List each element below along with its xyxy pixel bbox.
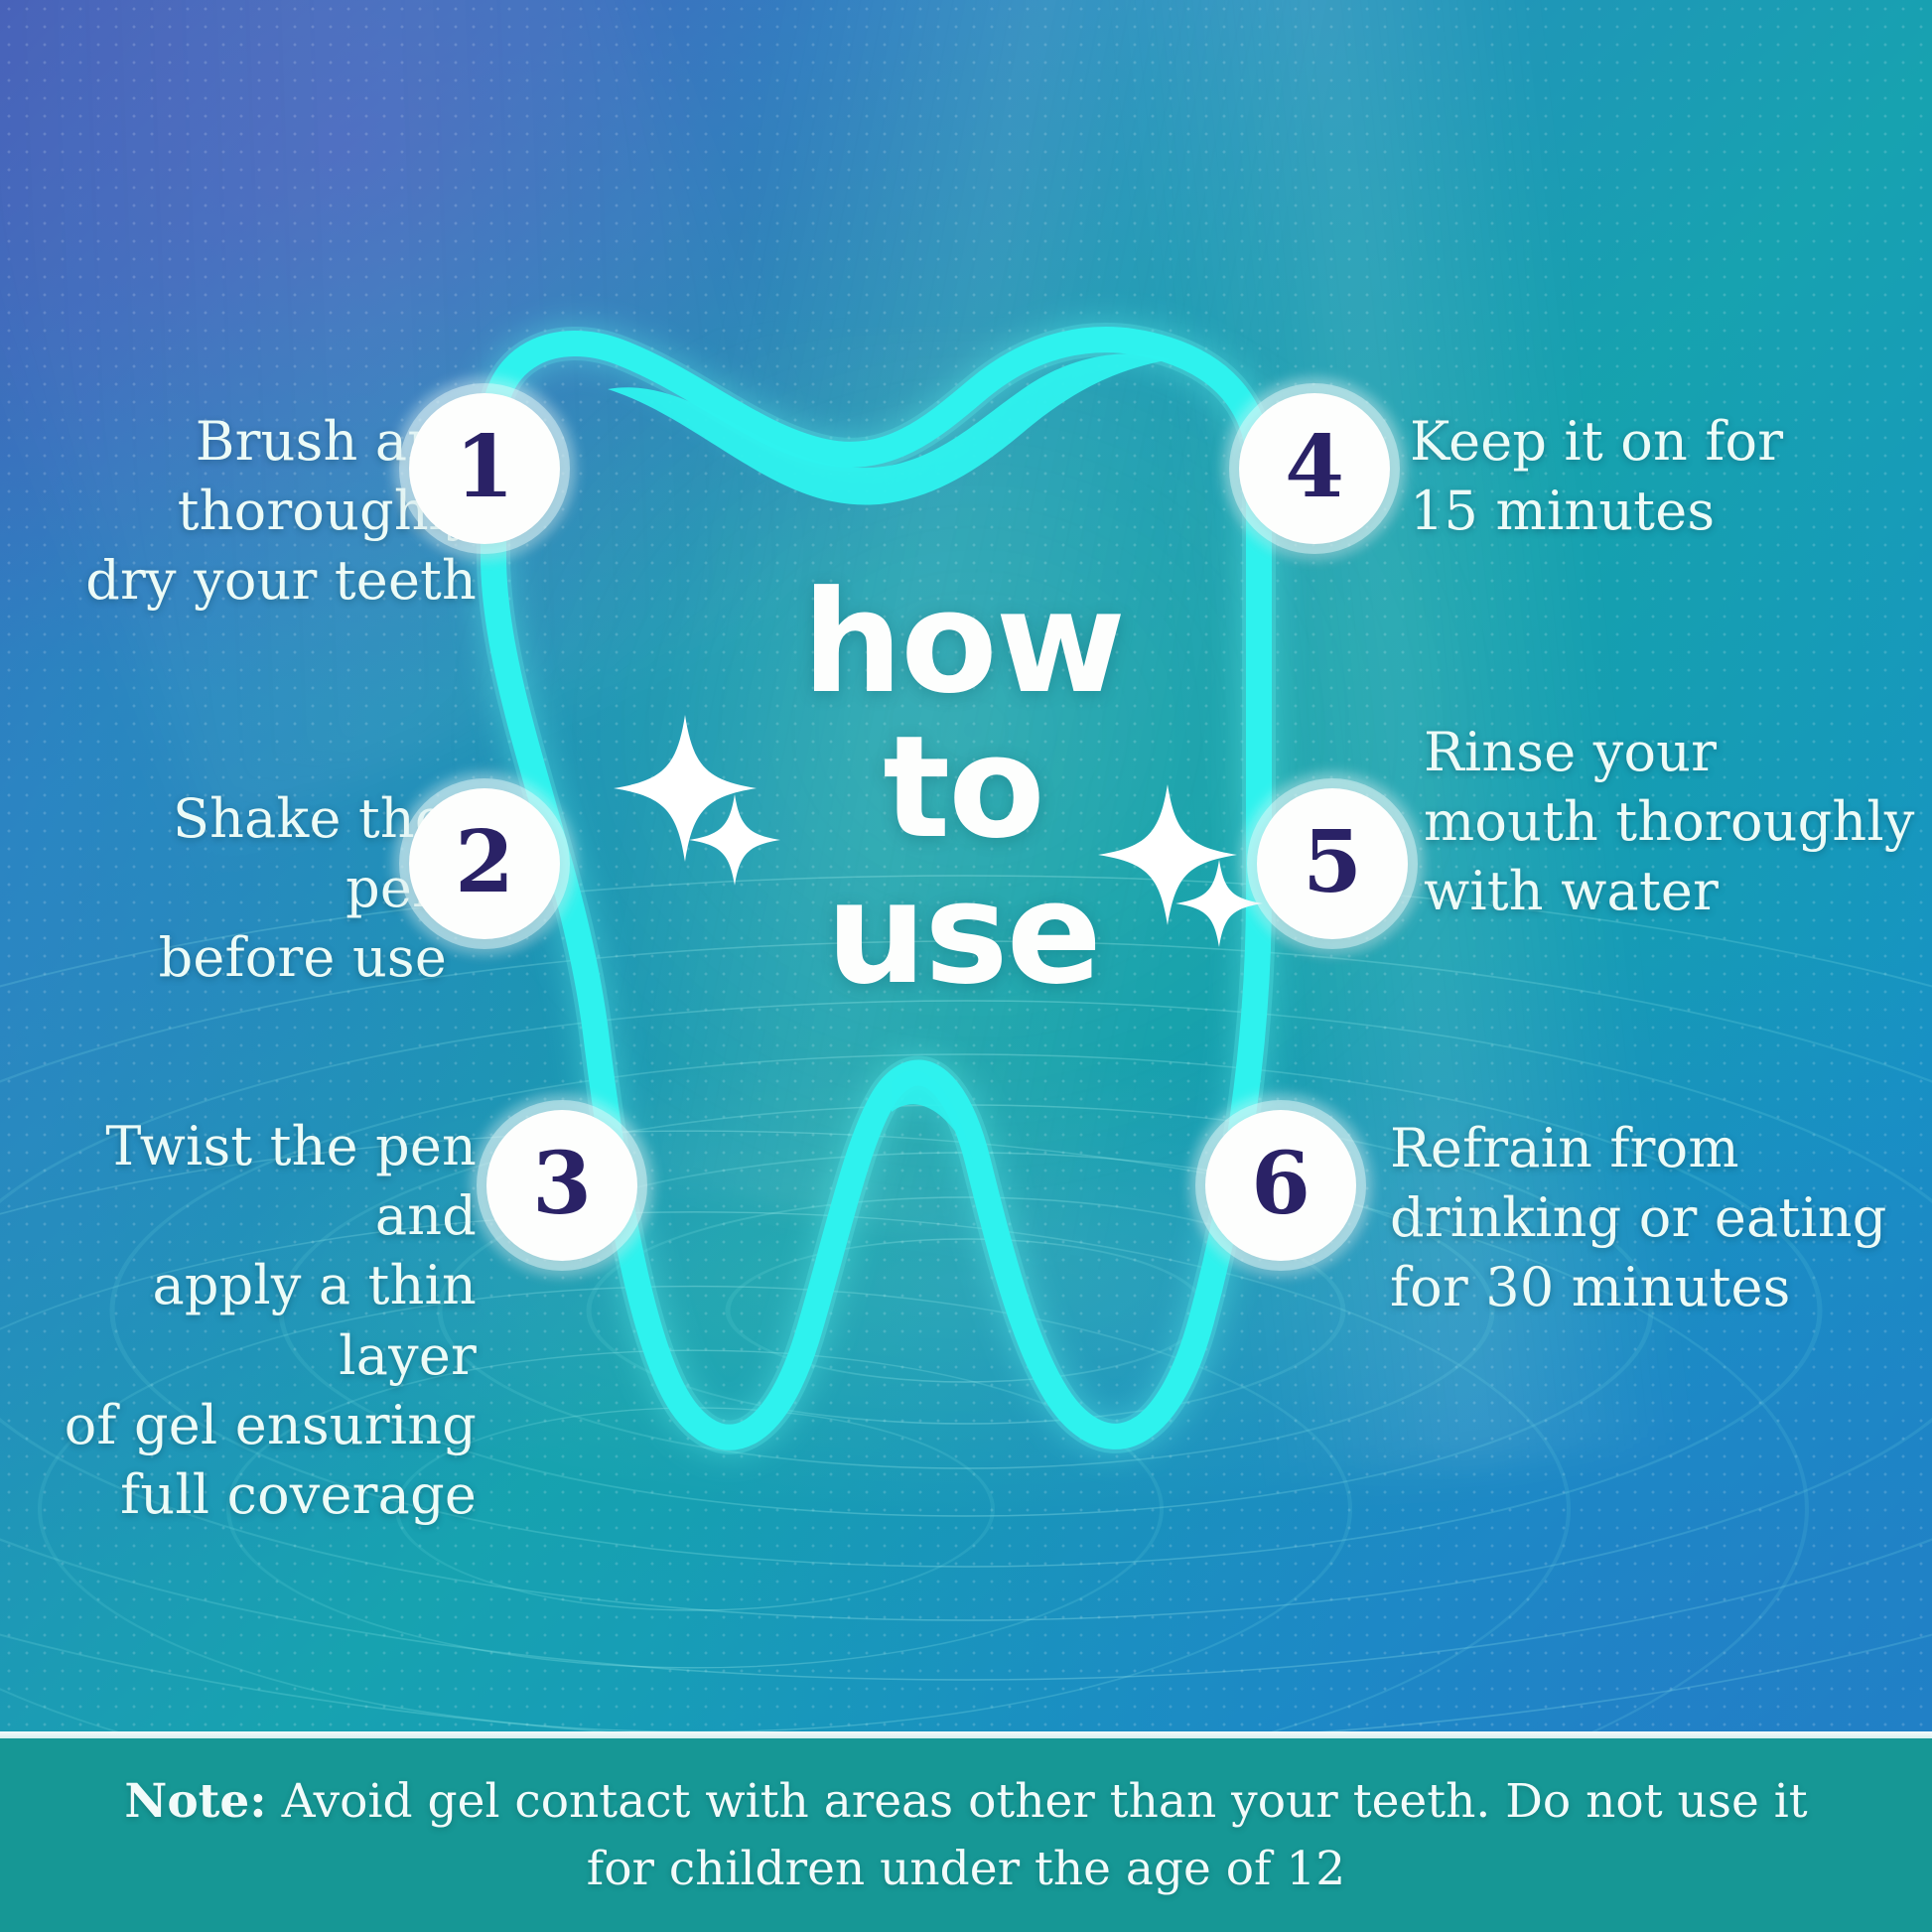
step-2-number: 2 (455, 820, 514, 905)
note-label: Note: (124, 1774, 266, 1829)
infographic-canvas: how to use Brush and thoroughly dry your… (0, 0, 1932, 1932)
page-title: how to use (616, 571, 1311, 1007)
step-6-text: Refrain from drinking or eating for 30 m… (1390, 1114, 1906, 1323)
step-3-text: Twist the pen and apply a thin layer of … (20, 1112, 477, 1530)
title-line-1: how (616, 571, 1311, 716)
step-3-number: 3 (532, 1142, 592, 1227)
step-4-badge[interactable]: 4 (1239, 393, 1390, 544)
step-5-number: 5 (1303, 820, 1362, 905)
note-divider (0, 1731, 1932, 1738)
step-1-badge[interactable]: 1 (409, 393, 560, 544)
step-6-number: 6 (1251, 1142, 1311, 1227)
step-6-badge[interactable]: 6 (1205, 1110, 1356, 1261)
note-body: Avoid gel contact with areas other than … (267, 1774, 1808, 1896)
step-2-text: Shake the pen before use (60, 784, 447, 994)
step-5-badge[interactable]: 5 (1257, 788, 1408, 939)
step-5-text: Rinse your mouth thoroughly with water (1424, 718, 1920, 927)
step-1-number: 1 (455, 425, 514, 510)
note-bar: Note: Avoid gel contact with areas other… (0, 1738, 1932, 1932)
title-line-3: use (616, 862, 1311, 1007)
step-2-badge[interactable]: 2 (409, 788, 560, 939)
note-text: Note: Avoid gel contact with areas other… (122, 1768, 1810, 1902)
step-4-number: 4 (1285, 425, 1344, 510)
step-4-text: Keep it on for 15 minutes (1410, 407, 1886, 546)
step-3-badge[interactable]: 3 (486, 1110, 637, 1261)
title-line-2: to (616, 716, 1311, 861)
